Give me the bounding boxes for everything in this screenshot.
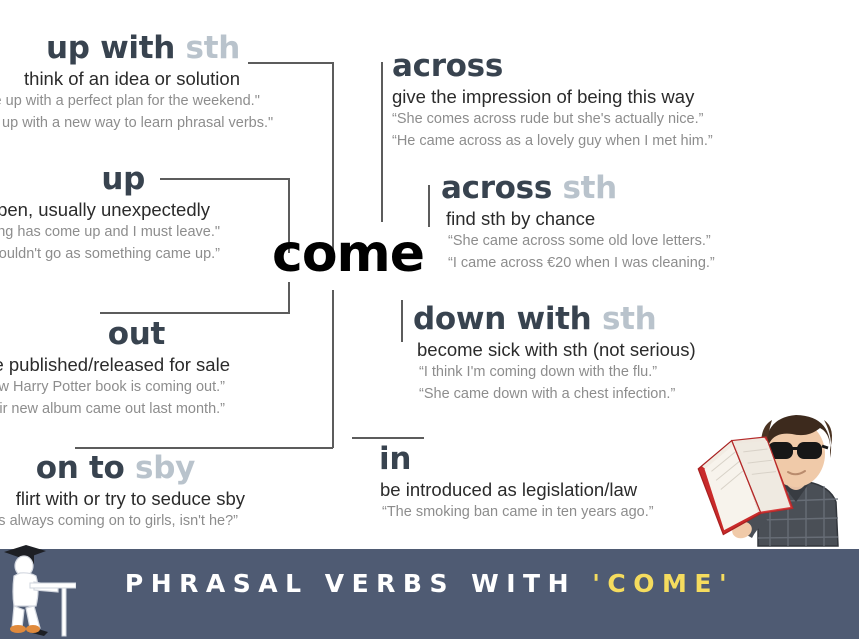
connector-out-horizontal [100, 312, 290, 314]
connector-down-with-sth-vertical [401, 300, 403, 342]
entry-up-meaning: happen, usually unexpectedly [0, 198, 210, 221]
desk-figure-icon [0, 528, 76, 639]
entry-down-with-sth-example-2: “She came down with a chest infection.” [419, 383, 696, 405]
entry-on-to-sby-meaning: flirt with or try to seduce sby [0, 487, 245, 510]
connector-in-horizontal [352, 437, 424, 439]
entry-up-with-sth-headword: up with sth [0, 32, 240, 65]
entry-across-sth-head-muted: sth [562, 170, 616, 206]
entry-across-head: across [392, 48, 503, 84]
entry-across-example-2: “He came across as a lovely guy when I m… [392, 130, 713, 152]
entry-across-example-1: “She comes across rude but she's actuall… [392, 108, 713, 130]
entry-across-sth[interactable]: across sth find sth by chance “She came … [441, 172, 715, 275]
connector-up-with-sth-horizontal [248, 62, 334, 64]
entry-up-head: up [101, 161, 145, 197]
connector-out-vertical [288, 282, 290, 314]
infographic-canvas: come up with sth think of an idea or sol… [0, 0, 859, 639]
entry-down-with-sth[interactable]: down with sth become sick with sth (not … [413, 303, 696, 406]
connector-on-to-sby-vertical [332, 290, 334, 448]
entry-down-with-sth-head-muted: sth [602, 301, 656, 337]
connector-on-to-sby-horizontal [75, 447, 333, 449]
entry-out[interactable]: out be published/released for sale “A ne… [0, 318, 285, 421]
connector-across-sth-vertical [428, 185, 430, 227]
entry-in-head: in [379, 441, 411, 477]
entry-up-example-1: Something has come up and I must leave." [0, 221, 220, 243]
entry-in-headword: in [379, 443, 654, 476]
entry-across-meaning: give the impression of being this way [392, 85, 713, 108]
entry-on-to-sby-headword: on to sby [0, 452, 195, 485]
entry-across[interactable]: across give the impression of being this… [392, 50, 713, 153]
entry-up-with-sth-head-muted: sth [186, 30, 240, 66]
banner-title-accent: 'COME' [592, 569, 734, 598]
entry-across-headword: across [392, 50, 713, 83]
entry-up-with-sth[interactable]: up with sth think of an idea or solution… [0, 32, 240, 135]
entry-down-with-sth-example-1: “I think I'm coming down with the flu.” [419, 361, 696, 383]
banner-title: PHRASAL VERBS WITH 'COME' [0, 569, 859, 598]
entry-on-to-sby-head-muted: sby [135, 450, 195, 486]
avatar [696, 398, 859, 550]
entry-across-sth-meaning: find sth by chance [446, 207, 715, 230]
entry-up-example-2: “I couldn't go as something came up.” [0, 243, 220, 265]
entry-down-with-sth-head: down with [413, 301, 591, 337]
entry-down-with-sth-headword: down with sth [413, 303, 696, 336]
entry-across-sth-example-1: “She came across some old love letters.” [448, 230, 715, 252]
entry-in-example-1: “The smoking ban came in ten years ago.” [382, 501, 654, 523]
entry-across-sth-head: across [441, 170, 552, 206]
entry-out-example-2: “Their new album came out last month.” [0, 398, 225, 420]
entry-across-sth-example-2: “I came across €20 when I was cleaning.” [448, 252, 715, 274]
connector-across-vertical [381, 62, 383, 222]
entry-down-with-sth-meaning: become sick with sth (not serious) [417, 338, 696, 361]
entry-in[interactable]: in be introduced as legislation/law “The… [379, 443, 654, 523]
entry-out-meaning: be published/released for sale [0, 353, 230, 376]
entry-up[interactable]: up happen, usually unexpectedly Somethin… [0, 163, 270, 266]
entry-across-sth-headword: across sth [441, 172, 715, 205]
entry-up-with-sth-head: up with [46, 30, 175, 66]
banner-title-main: PHRASAL VERBS WITH [125, 569, 592, 598]
bottom-banner: PHRASAL VERBS WITH 'COME' [0, 549, 859, 639]
entry-on-to-sby[interactable]: on to sby flirt with or try to seduce sb… [0, 452, 300, 532]
entry-up-with-sth-meaning: think of an idea or solution [0, 67, 240, 90]
entry-in-meaning: be introduced as legislation/law [380, 478, 654, 501]
entry-up-with-sth-example-2: He came up with a new way to learn phras… [0, 112, 240, 134]
entry-out-head: out [108, 316, 165, 352]
entry-up-headword: up [0, 163, 145, 196]
center-word-come: come [272, 228, 424, 280]
entry-out-example-1: “A new Harry Potter book is coming out.” [0, 376, 225, 398]
entry-up-with-sth-example-1: I've come up with a perfect plan for the… [0, 90, 240, 112]
entry-out-headword: out [0, 318, 165, 351]
entry-on-to-sby-head: on to [36, 450, 125, 486]
